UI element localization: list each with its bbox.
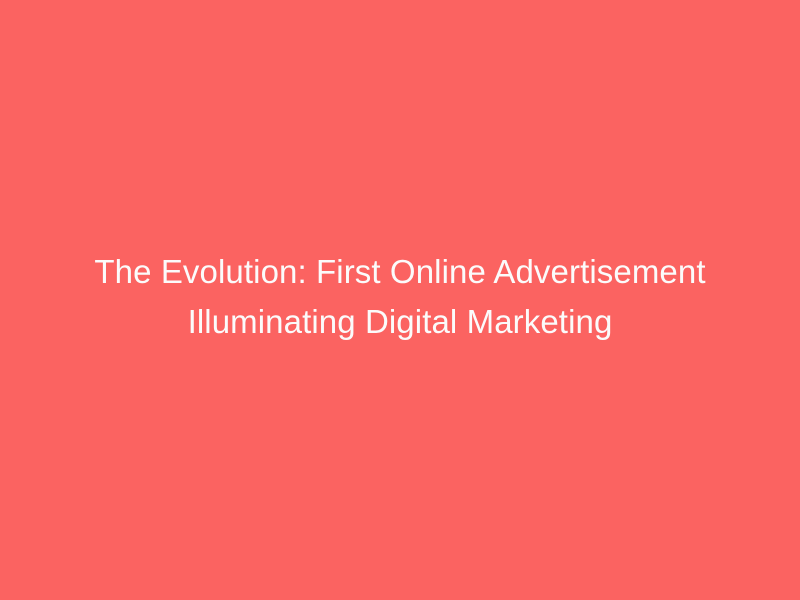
page-title: The Evolution: First Online Advertisemen… [64, 247, 736, 353]
title-card: The Evolution: First Online Advertisemen… [0, 0, 800, 600]
page-title-line-1: The Evolution: First Online Advertisemen… [64, 247, 736, 297]
page-title-line-2: Illuminating Digital Marketing [64, 297, 736, 347]
